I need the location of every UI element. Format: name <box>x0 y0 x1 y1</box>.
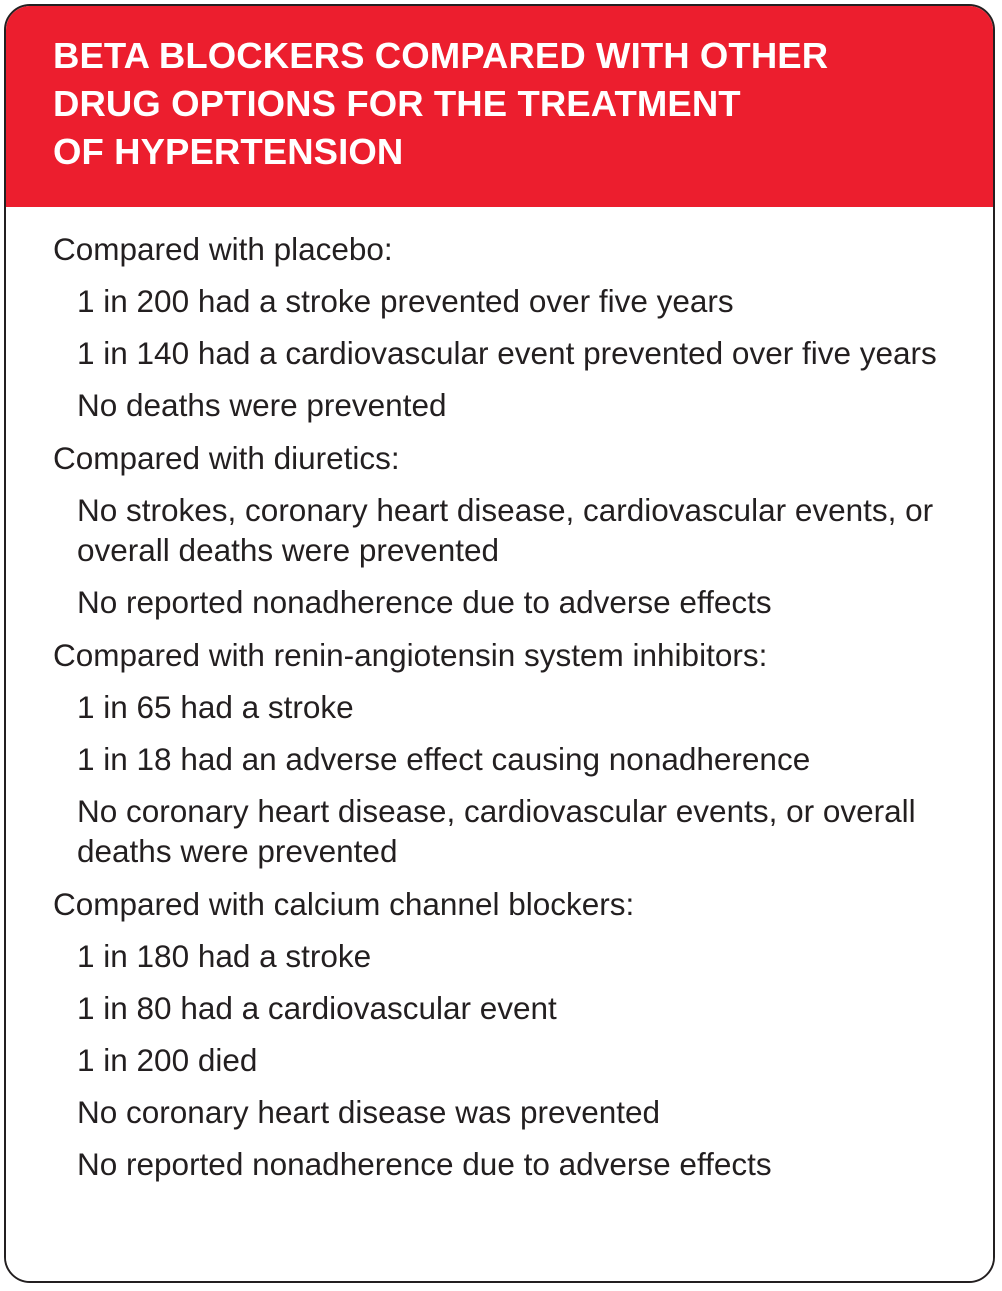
comparison-list-item: 1 in 200 had a stroke prevented over fiv… <box>53 281 963 321</box>
comparison-group-list: 1 in 65 had a stroke1 in 18 had an adver… <box>53 687 963 871</box>
comparison-group: Compared with placebo:1 in 200 had a str… <box>53 229 963 425</box>
comparison-group-heading: Compared with calcium channel blockers: <box>53 884 963 924</box>
comparison-list-item: 1 in 180 had a stroke <box>53 936 963 976</box>
comparison-list-item: 1 in 200 died <box>53 1040 963 1080</box>
comparison-list-item: No reported nonadherence due to adverse … <box>53 582 963 622</box>
comparison-group: Compared with diuretics:No strokes, coro… <box>53 438 963 622</box>
comparison-group-list: 1 in 180 had a stroke1 in 80 had a cardi… <box>53 936 963 1184</box>
summary-card: BETA BLOCKERS COMPARED WITH OTHER DRUG O… <box>4 4 995 1283</box>
comparison-group-list: 1 in 200 had a stroke prevented over fiv… <box>53 281 963 425</box>
card-body: Compared with placebo:1 in 200 had a str… <box>6 207 993 1281</box>
comparison-list-item: No reported nonadherence due to adverse … <box>53 1144 963 1184</box>
card-title: BETA BLOCKERS COMPARED WITH OTHER DRUG O… <box>53 32 953 176</box>
comparison-list-item: No coronary heart disease, cardiovascula… <box>53 791 963 871</box>
comparison-group-heading: Compared with renin-angiotensin system i… <box>53 635 963 675</box>
comparison-list-item: 1 in 65 had a stroke <box>53 687 963 727</box>
comparison-group-heading: Compared with placebo: <box>53 229 963 269</box>
comparison-list-item: No deaths were prevented <box>53 385 963 425</box>
card-header-band: BETA BLOCKERS COMPARED WITH OTHER DRUG O… <box>6 6 993 207</box>
comparison-list-item: 1 in 80 had a cardiovascular event <box>53 988 963 1028</box>
comparison-list-item: No coronary heart disease was prevented <box>53 1092 963 1132</box>
comparison-group-list: No strokes, coronary heart disease, card… <box>53 490 963 622</box>
comparison-group: Compared with calcium channel blockers:1… <box>53 884 963 1184</box>
comparison-group: Compared with renin-angiotensin system i… <box>53 635 963 871</box>
comparison-list-item: No strokes, coronary heart disease, card… <box>53 490 963 570</box>
comparison-list-item: 1 in 140 had a cardiovascular event prev… <box>53 333 963 373</box>
comparison-list-item: 1 in 18 had an adverse effect causing no… <box>53 739 963 779</box>
comparison-group-heading: Compared with diuretics: <box>53 438 963 478</box>
comparison-groups: Compared with placebo:1 in 200 had a str… <box>53 229 963 1184</box>
